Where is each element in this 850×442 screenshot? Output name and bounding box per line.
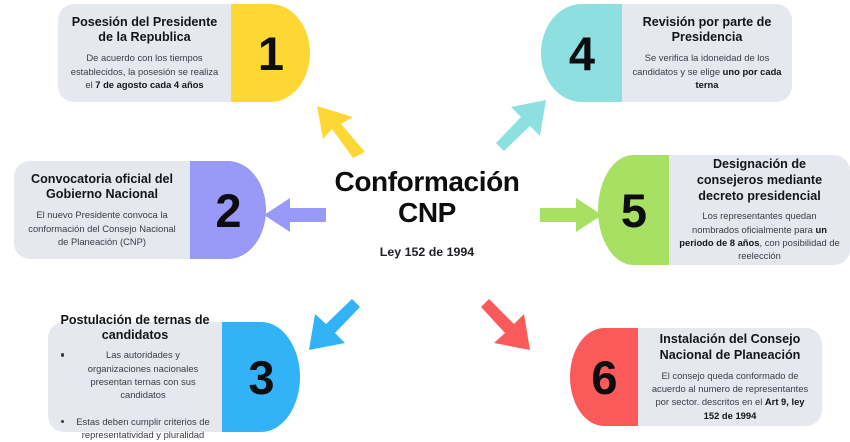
step-4-number: 4 bbox=[569, 30, 594, 77]
center-block: Conformación CNP Ley 152 de 1994 bbox=[318, 166, 536, 259]
step-2-number: 2 bbox=[215, 187, 240, 234]
step-1-text-pane: Posesión del Presidente de la Republica … bbox=[58, 4, 231, 102]
step-6-title: Instalación del Consejo Nacional de Plan… bbox=[648, 332, 812, 363]
step-card-6[interactable]: 6 Instalación del Consejo Nacional de Pl… bbox=[570, 328, 822, 426]
arrow-to-step-1-icon bbox=[313, 100, 377, 160]
step-1-body: De acuerdo con los tiempos establecidos,… bbox=[68, 51, 221, 91]
step-6-number-pane: 6 bbox=[570, 328, 638, 426]
step-card-4[interactable]: 4 Revisión por parte de Presidencia Se v… bbox=[541, 4, 792, 102]
step-5-number-pane: 5 bbox=[598, 155, 669, 265]
step-4-number-pane: 4 bbox=[541, 4, 622, 102]
step-5-title: Designación de consejeros mediante decre… bbox=[678, 157, 841, 204]
step-5-number: 5 bbox=[621, 187, 646, 234]
step-3-number-pane: 3 bbox=[222, 322, 300, 432]
step-3-text-pane: Postulación de ternas de candidatos Las … bbox=[48, 322, 222, 432]
center-title: Conformación CNP bbox=[318, 166, 536, 229]
step-1-number-pane: 1 bbox=[231, 4, 310, 102]
arrow-to-step-5-icon bbox=[540, 196, 602, 234]
step-card-2[interactable]: Convocatoria oficial del Gobierno Nacion… bbox=[14, 161, 266, 259]
step-6-number: 6 bbox=[591, 354, 616, 401]
step-2-text-pane: Convocatoria oficial del Gobierno Nacion… bbox=[14, 161, 190, 259]
step-4-text-pane: Revisión por parte de Presidencia Se ver… bbox=[622, 4, 792, 102]
step-3-bullet-list: Las autoridades y organizaciones naciona… bbox=[54, 348, 216, 441]
list-item: Estas deben cumplir criterios de represe… bbox=[74, 415, 212, 442]
step-6-text-pane: Instalación del Consejo Nacional de Plan… bbox=[638, 328, 822, 426]
arrow-to-step-4-icon bbox=[490, 96, 552, 156]
center-title-line-2: CNP bbox=[398, 197, 456, 228]
step-6-body: El consejo queda conformado de acuerdo a… bbox=[648, 369, 812, 422]
step-card-3[interactable]: Postulación de ternas de candidatos Las … bbox=[48, 322, 300, 432]
step-2-body: El nuevo Presidente convoca la conformac… bbox=[24, 208, 180, 248]
step-5-text-pane: Designación de consejeros mediante decre… bbox=[669, 155, 850, 265]
step-1-title: Posesión del Presidente de la Republica bbox=[68, 15, 221, 46]
center-subtitle: Ley 152 de 1994 bbox=[318, 245, 536, 259]
arrow-to-step-6-icon bbox=[478, 296, 540, 356]
arrow-to-step-2-icon bbox=[264, 196, 326, 234]
step-1-number: 1 bbox=[258, 30, 283, 77]
step-card-1[interactable]: Posesión del Presidente de la Republica … bbox=[58, 4, 310, 102]
step-4-title: Revisión por parte de Presidencia bbox=[632, 15, 782, 46]
center-title-line-1: Conformación bbox=[335, 166, 520, 197]
step-card-5[interactable]: 5 Designación de consejeros mediante dec… bbox=[598, 155, 850, 265]
step-5-body: Los representantes quedan nombrados ofic… bbox=[678, 209, 841, 262]
arrow-to-step-3-icon bbox=[305, 296, 367, 356]
step-3-number: 3 bbox=[248, 354, 273, 401]
step-3-title: Postulación de ternas de candidatos bbox=[54, 313, 216, 344]
step-4-body: Se verifica la idoneidad de los candidat… bbox=[632, 51, 782, 91]
step-2-title: Convocatoria oficial del Gobierno Nacion… bbox=[24, 172, 180, 203]
step-2-number-pane: 2 bbox=[190, 161, 266, 259]
list-item: Las autoridades y organizaciones naciona… bbox=[74, 348, 212, 401]
